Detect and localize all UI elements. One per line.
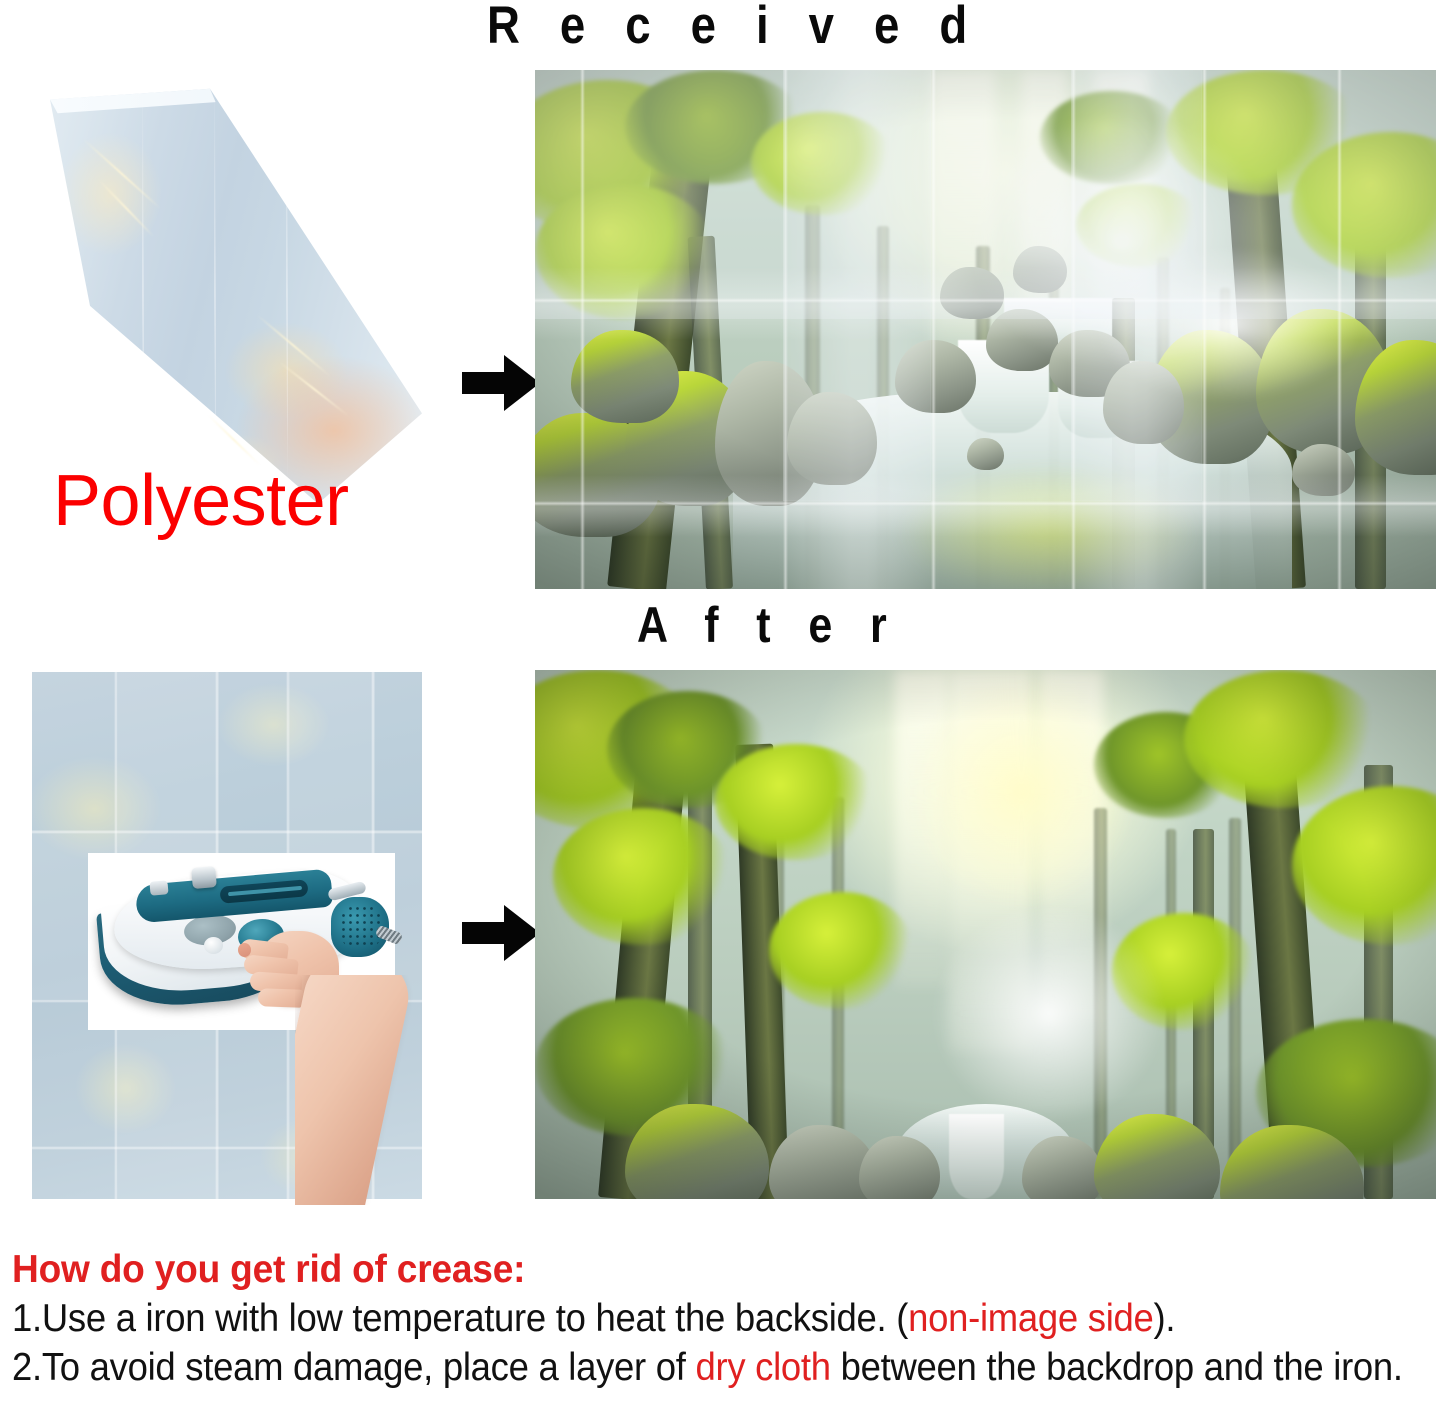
photo-vignette xyxy=(535,670,1436,1199)
step2-suffix: between the backdrop and the iron. xyxy=(831,1346,1403,1389)
instruction-step-2: 2.To avoid steam damage, place a layer o… xyxy=(12,1345,1340,1390)
step2-highlight: dry cloth xyxy=(695,1346,830,1389)
iron-vent-holes xyxy=(340,905,382,949)
backside-crease-h1 xyxy=(32,830,422,834)
after-backdrop-photo xyxy=(535,670,1436,1199)
instructions-block: How do you get rid of crease: 1.Use a ir… xyxy=(12,1248,1432,1390)
step2-prefix: 2.To avoid steam damage, place a layer o… xyxy=(12,1346,695,1389)
arrow-right-icon xyxy=(462,355,540,411)
folded-fabric-swatch xyxy=(22,78,422,508)
arrow-shaft xyxy=(462,372,508,394)
arrow-right-icon xyxy=(462,905,540,961)
photo-vignette xyxy=(535,70,1436,589)
received-title: R e c e i v e d xyxy=(487,0,981,52)
after-title: A f t e r xyxy=(637,600,900,650)
instruction-step-1: 1.Use a iron with low temperature to hea… xyxy=(12,1296,1340,1341)
received-backdrop-photo xyxy=(535,70,1436,589)
iron-small-knob xyxy=(149,880,168,896)
step1-highlight: non-image side xyxy=(908,1297,1153,1340)
polyester-label: Polyester xyxy=(53,465,349,537)
iron-steam-knob xyxy=(191,866,217,889)
instructions-heading: How do you get rid of crease: xyxy=(12,1248,1361,1292)
arrow-shaft xyxy=(462,922,508,944)
forearm xyxy=(295,975,427,1205)
step1-suffix: ). xyxy=(1154,1297,1176,1340)
step1-prefix: 1.Use a iron with low temperature to hea… xyxy=(12,1297,908,1340)
forearm-shape xyxy=(295,975,416,1205)
fabric-sheet xyxy=(22,78,422,508)
iron-spray-button xyxy=(204,937,223,954)
